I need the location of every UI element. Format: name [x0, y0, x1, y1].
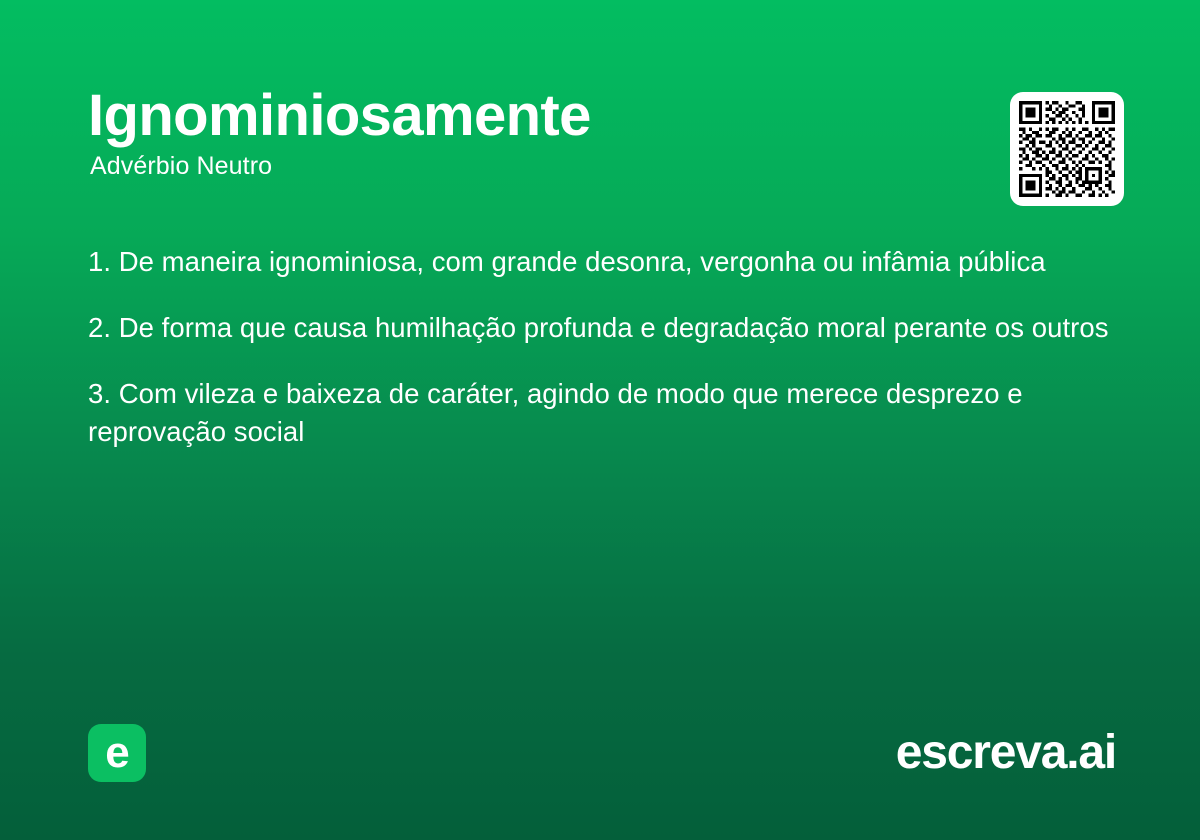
escreva-logo-icon: e: [88, 724, 146, 782]
page-title: Ignominiosamente: [88, 86, 1112, 146]
qr-code-image: [1019, 101, 1115, 197]
word-class-label: Advérbio Neutro: [90, 152, 1112, 181]
card-footer: e escreva.ai: [88, 724, 1116, 782]
definition-item: 3. Com vileza e baixeza de caráter, agin…: [88, 375, 1112, 451]
logo-letter: e: [88, 724, 146, 782]
qr-code[interactable]: [1010, 92, 1124, 206]
definitions-list: 1. De maneira ignominiosa, com grande de…: [88, 243, 1112, 451]
brand-wordmark: escreva.ai: [896, 726, 1116, 780]
word-definition-card: Ignominiosamente Advérbio Neutro: [0, 0, 1200, 840]
card-header: Ignominiosamente Advérbio Neutro: [88, 86, 1112, 216]
definition-item: 2. De forma que causa humilhação profund…: [88, 309, 1112, 347]
definition-item: 1. De maneira ignominiosa, com grande de…: [88, 243, 1112, 281]
